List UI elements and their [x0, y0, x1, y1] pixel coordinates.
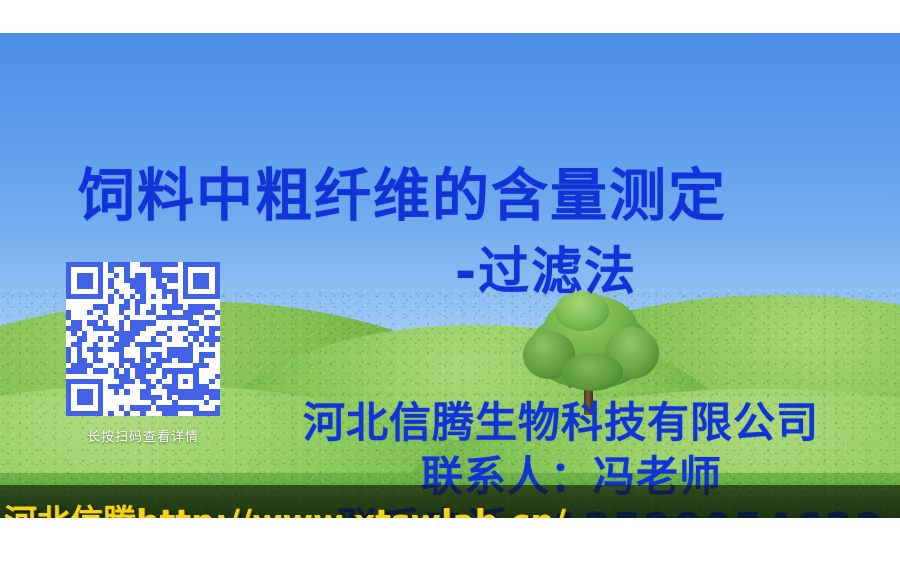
tree-canopy-under	[561, 353, 623, 391]
screenshot-root: 饲料中粗纤维的含量测定 -过滤法 河北信腾生物科技有限公司 联系人：冯老师 联系…	[0, 0, 900, 561]
qr-code-block: 长按扫码查看详情	[66, 262, 220, 445]
video-player-stage[interactable]: 饲料中粗纤维的含量测定 -过滤法 河北信腾生物科技有限公司 联系人：冯老师 联系…	[0, 33, 900, 518]
slide-title-line1: 饲料中粗纤维的含量测定	[78, 150, 727, 232]
marquee-banner-text: 河北信腾http://www.xtswlab.cn/	[4, 495, 566, 518]
qr-code-caption: 长按扫码查看详情	[66, 426, 220, 445]
qr-code-image	[66, 262, 220, 416]
marquee-banner: 河北信腾http://www.xtswlab.cn/	[0, 485, 900, 518]
slide-title-line2: -过滤法	[455, 230, 637, 304]
slide-company-name: 河北信腾生物科技有限公司	[303, 389, 819, 450]
